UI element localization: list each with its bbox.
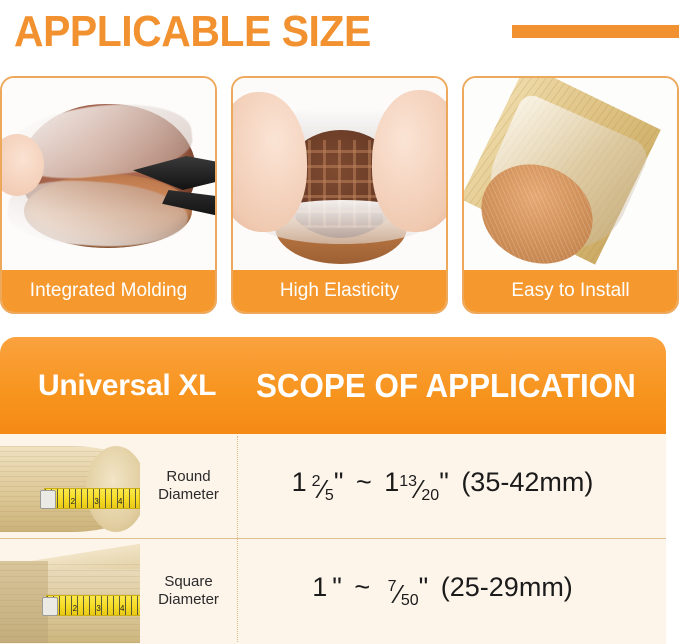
- row-label-line1: Round: [140, 468, 237, 486]
- spec-header-band: Universal XL SCOPE OF APPLICATION: [0, 337, 666, 434]
- table-row: 1 2 3 4 5 Round Diameter 12⁄5" ~ 113⁄20"…: [0, 434, 666, 538]
- square-post-photo: 1 2 3 4 5: [0, 539, 140, 643]
- row-value-square: 1" ~ 7⁄50" (25-29mm): [237, 572, 666, 610]
- inch-mark: ": [334, 467, 344, 497]
- feature-panel-integrated-molding: Integrated Molding: [0, 76, 217, 314]
- row-label-line2: Diameter: [140, 486, 237, 504]
- panel-caption-label: High Elasticity: [233, 270, 446, 312]
- spec-header-scope-title: SCOPE OF APPLICATION: [256, 367, 636, 405]
- integrated-molding-photo: [2, 78, 215, 274]
- panel-caption-label: Easy to Install: [464, 270, 677, 312]
- tape-numbers: 1 2 3 4 5: [47, 497, 140, 508]
- feature-panel-easy-to-install: Easy to Install: [462, 76, 679, 314]
- metric-range: (35-42mm): [461, 467, 593, 497]
- inch-mark: ": [419, 572, 429, 602]
- min-whole: 1: [312, 572, 327, 602]
- metric-range: (25-29mm): [441, 572, 573, 602]
- feature-panels: Integrated Molding High Elasticity Easy …: [0, 76, 679, 316]
- easy-to-install-photo: [464, 78, 677, 274]
- tape-numbers: 1 2 3 4 5: [49, 604, 140, 615]
- max-numerator: 13: [399, 473, 417, 491]
- min-numerator: 2: [312, 473, 321, 491]
- min-denominator: 5: [325, 487, 334, 505]
- range-tilde: ~: [356, 467, 372, 497]
- inch-mark: ": [332, 572, 342, 602]
- panel-caption-label: Integrated Molding: [2, 270, 215, 312]
- row-label-square: Square Diameter: [140, 573, 237, 610]
- title-accent-rule: [512, 25, 679, 38]
- row-label-line2: Diameter: [140, 591, 237, 609]
- min-whole: 1: [292, 467, 307, 497]
- tape-measure-icon: 1 2 3 4 5: [44, 488, 140, 509]
- max-numerator: 7: [388, 578, 397, 596]
- range-tilde: ~: [354, 572, 370, 602]
- spec-table: 1 2 3 4 5 Round Diameter 12⁄5" ~ 113⁄20"…: [0, 434, 666, 644]
- row-value-round: 12⁄5" ~ 113⁄20" (35-42mm): [237, 467, 666, 505]
- max-denominator: 20: [421, 487, 439, 505]
- high-elasticity-photo: [233, 78, 446, 274]
- inch-mark: ": [439, 467, 449, 497]
- max-denominator: 50: [401, 592, 419, 610]
- page-title: APPLICABLE SIZE: [14, 10, 371, 54]
- row-label-line1: Square: [140, 573, 237, 591]
- spec-header-product-name: Universal XL: [38, 369, 216, 403]
- max-whole: 1: [384, 467, 399, 497]
- tape-measure-icon: 1 2 3 4 5: [46, 595, 140, 616]
- feature-panel-high-elasticity: High Elasticity: [231, 76, 448, 314]
- row-label-round: Round Diameter: [140, 468, 237, 505]
- round-dowel-photo: 1 2 3 4 5: [0, 434, 140, 538]
- table-row: 1 2 3 4 5 Square Diameter 1" ~ 7⁄50" (25…: [0, 539, 666, 643]
